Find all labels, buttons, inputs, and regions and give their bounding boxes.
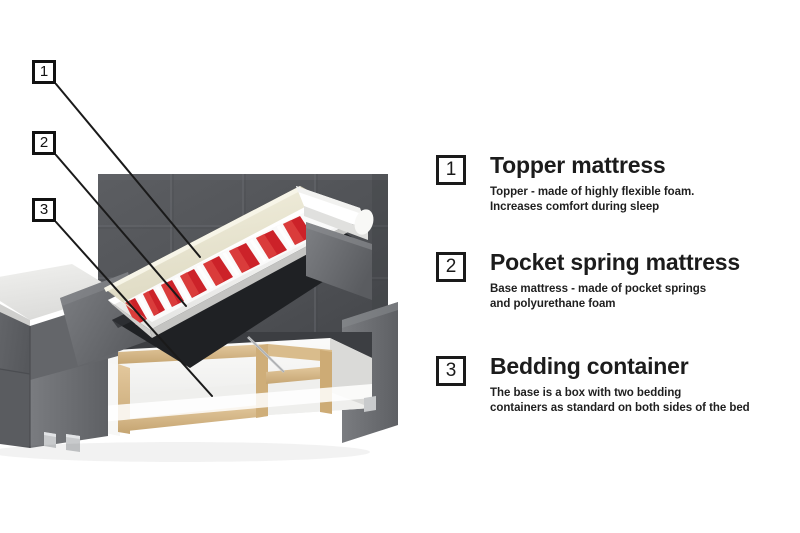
- legend-item-bedding-container[interactable]: 3 Bedding container The base is a box wi…: [432, 353, 800, 416]
- legend-description-2: Base mattress - made of pocket springs a…: [490, 282, 800, 312]
- legend-description-1-line-1: Topper - made of highly flexible foam.: [490, 185, 800, 200]
- bed-illustration: 1 2 3: [0, 0, 420, 533]
- bed-leg: [364, 396, 376, 412]
- floor-shadow: [0, 442, 370, 462]
- legend-body-3: Bedding container The base is a box with…: [490, 353, 800, 416]
- callout-marker-3[interactable]: 3: [32, 198, 56, 222]
- legend-number-3: 3: [436, 356, 466, 386]
- legend-body-1: Topper mattress Topper - made of highly …: [490, 152, 800, 215]
- legend-item-pocket-spring-mattress[interactable]: 2 Pocket spring mattress Base mattress -…: [432, 249, 800, 312]
- legend-panel: 1 Topper mattress Topper - made of highl…: [432, 0, 800, 533]
- legend-description-2-line-2: and polyurethane foam: [490, 297, 800, 312]
- legend-number-1: 1: [436, 155, 466, 185]
- callout-marker-1[interactable]: 1: [32, 60, 56, 84]
- diagram-canvas: 1 2 3 1 Topper mattress Topper - made of…: [0, 0, 800, 533]
- legend-body-2: Pocket spring mattress Base mattress - m…: [490, 249, 800, 312]
- legend-description-1-line-2: Increases comfort during sleep: [490, 200, 800, 215]
- callout-marker-2[interactable]: 2: [32, 131, 56, 155]
- legend-description-2-line-1: Base mattress - made of pocket springs: [490, 282, 800, 297]
- legend-title-3: Bedding container: [490, 353, 800, 380]
- legend-description-3-line-1: The base is a box with two bedding: [490, 386, 800, 401]
- legend-description-3-line-2: containers as standard on both sides of …: [490, 401, 800, 416]
- legend-title-1: Topper mattress: [490, 152, 800, 179]
- legend-item-topper-mattress[interactable]: 1 Topper mattress Topper - made of highl…: [432, 152, 800, 215]
- legend-description-1: Topper - made of highly flexible foam. I…: [490, 185, 800, 215]
- legend-title-2: Pocket spring mattress: [490, 249, 800, 276]
- legend-number-2: 2: [436, 252, 466, 282]
- legend-description-3: The base is a box with two bedding conta…: [490, 386, 800, 416]
